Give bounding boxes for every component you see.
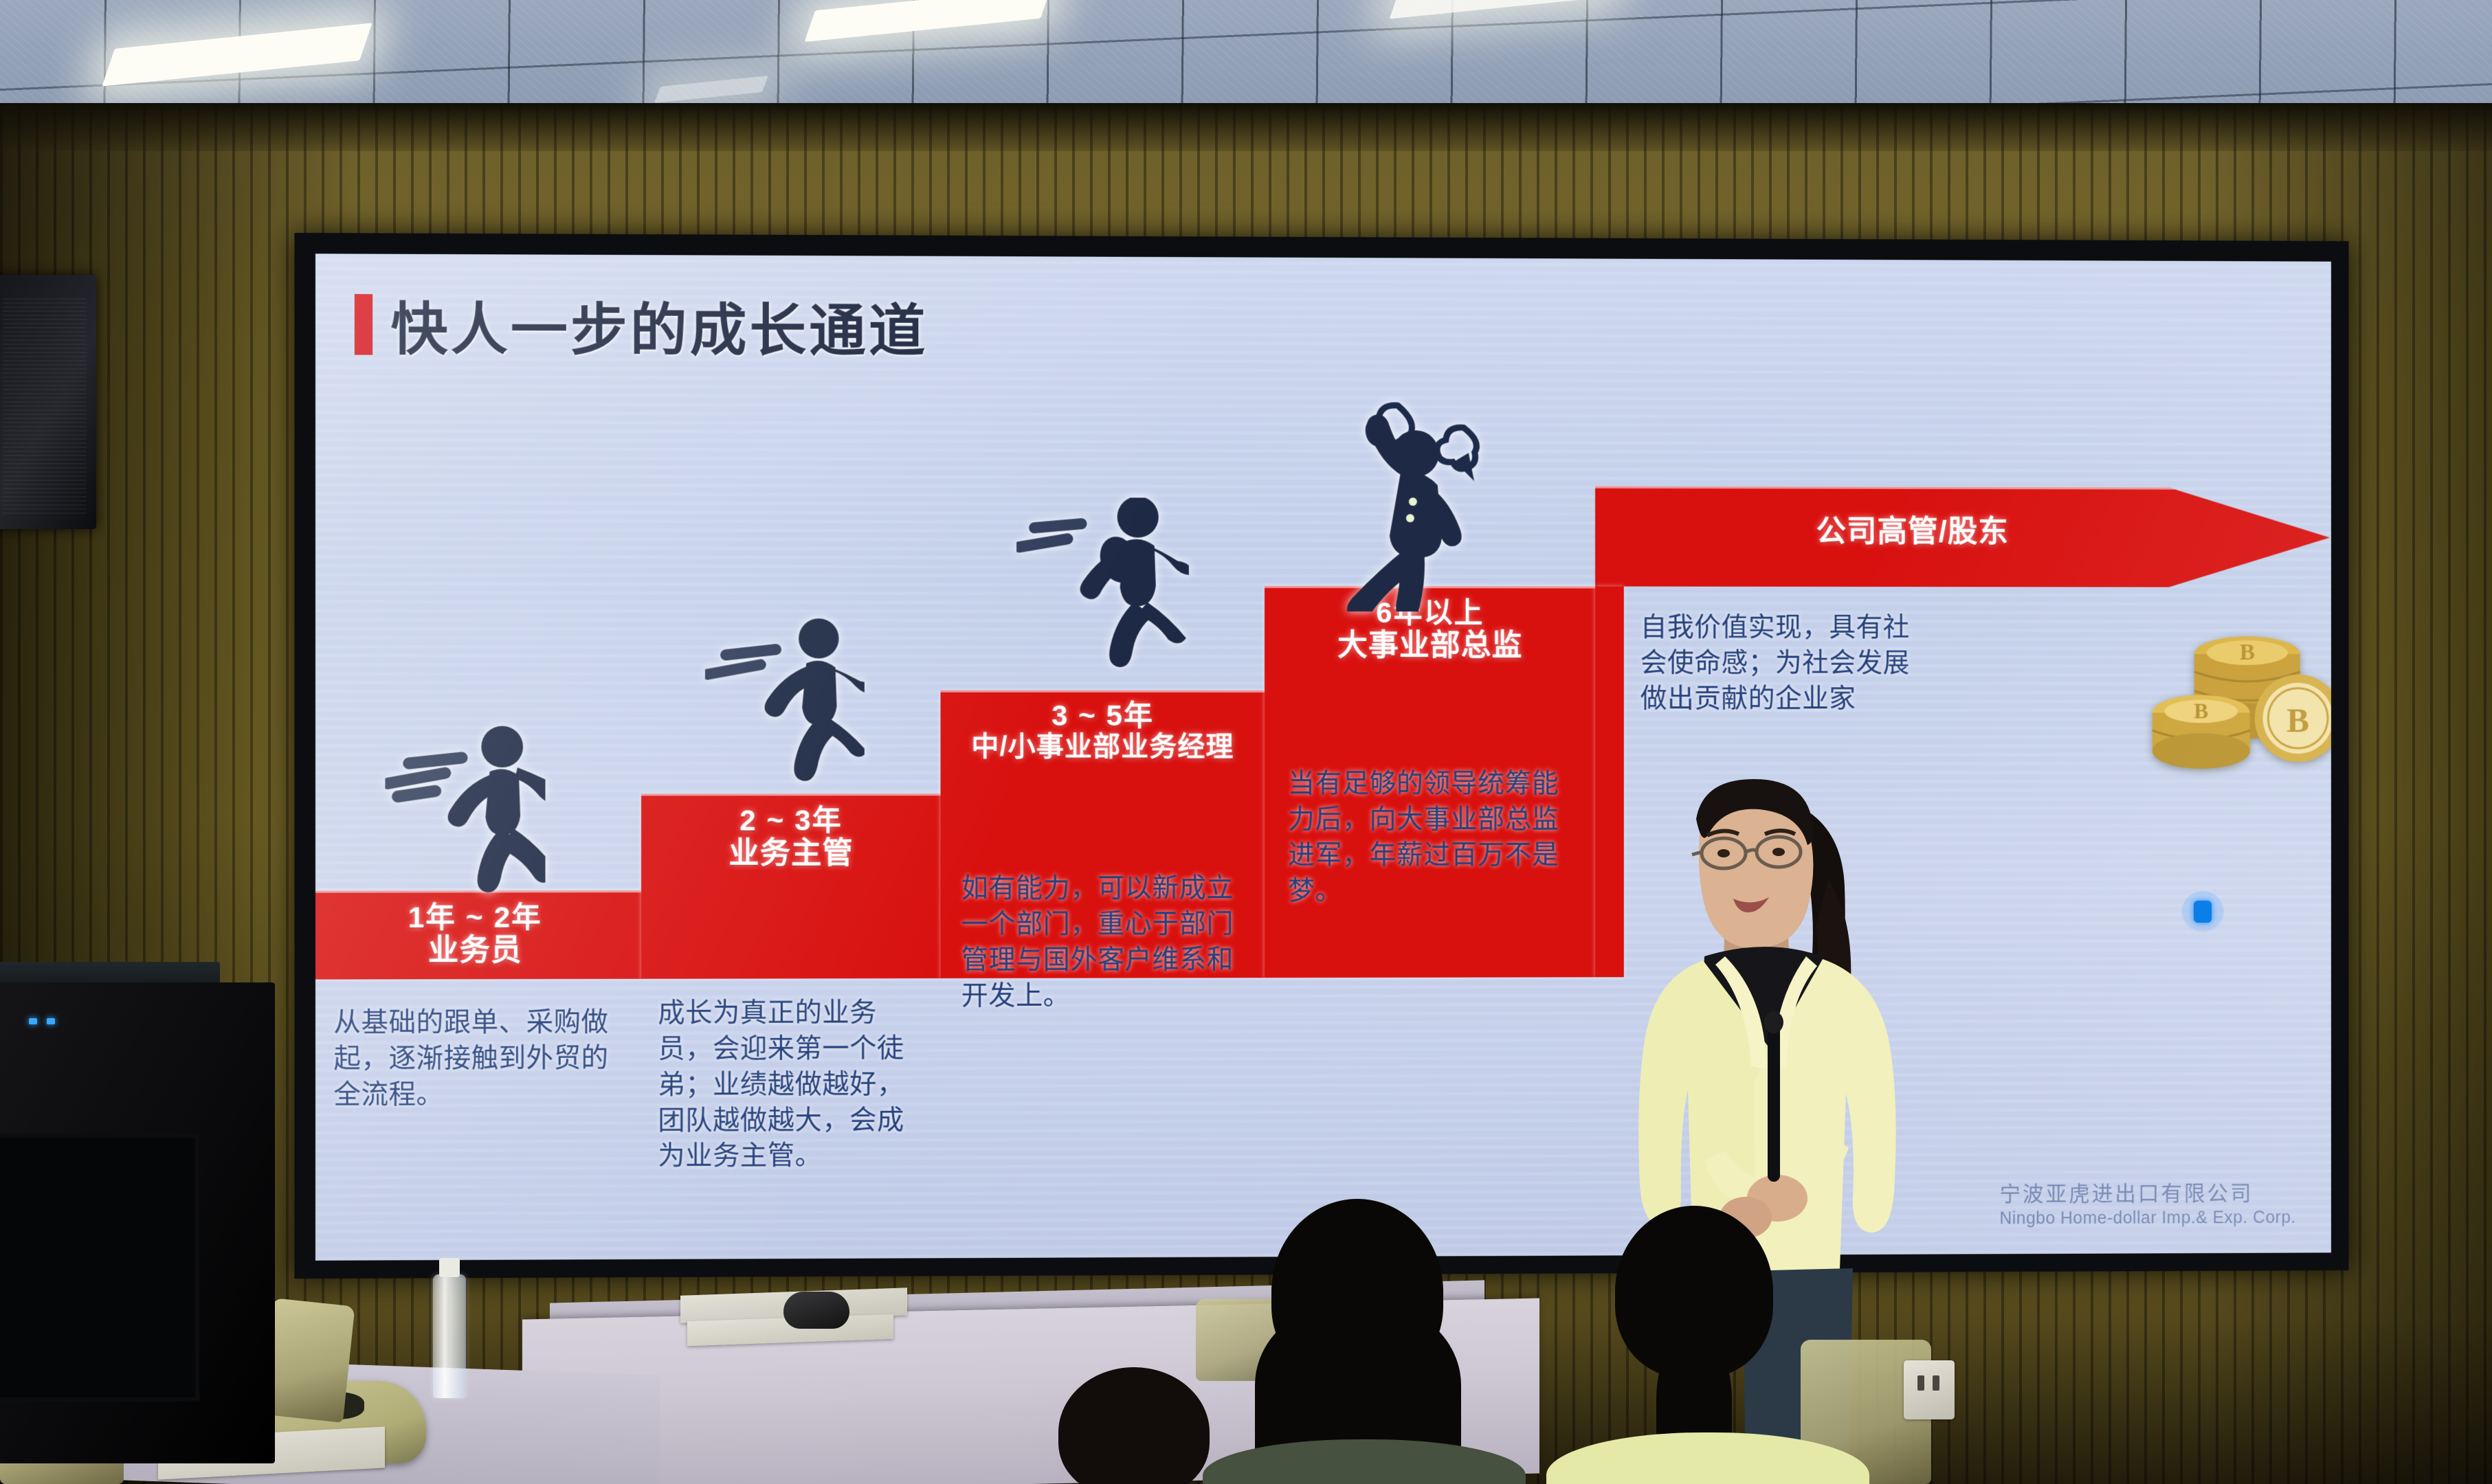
- company-watermark: 宁波亚虎进出口有限公司 Ningbo Home-dollar Imp.& Exp…: [1999, 1180, 2295, 1229]
- blue-cursor-dot-icon[interactable]: [2181, 891, 2224, 934]
- computer-mouse[interactable]: [783, 1292, 849, 1329]
- running-person-icon: [1016, 497, 1189, 684]
- step-body-2: 成长为真正的业务员，会迎来第一个徒弟；业绩越做越好，团队越做越大，会成为业务主管…: [658, 995, 922, 1174]
- step-body-1: 从基础的跟单、采购做起，逐渐接触到外贸的全流程。: [333, 1004, 612, 1113]
- step-block-1: 1年 ~ 2年 业务员: [315, 890, 641, 980]
- step-label-3: 3 ~ 5年 中/小事业部业务经理: [941, 699, 1265, 763]
- step-label-2: 2 ~ 3年 业务主管: [641, 804, 940, 870]
- step-body-3: 如有能力，可以新成立一个部门，重心于部门管理与国外客户维系和开发上。: [961, 870, 1237, 1013]
- watermark-english: Ningbo Home-dollar Imp.& Exp. Corp.: [1999, 1207, 2295, 1230]
- step-label-5: 公司高管/股东: [1595, 515, 2330, 550]
- audience-member: [1031, 1367, 1258, 1484]
- svg-text:B: B: [2194, 699, 2208, 723]
- running-person-icon: [385, 725, 545, 898]
- audience-shoulders: [1546, 1432, 1869, 1484]
- wall-power-socket[interactable]: [1904, 1360, 1955, 1419]
- celebrating-businessman-icon: [1313, 398, 1518, 611]
- audience-member: [1230, 1199, 1491, 1484]
- presentation-slide: 快人一步的成长通道 1年 ~ 2年 业务员 2 ~ 3年 业务主管: [315, 254, 2331, 1261]
- step-block-5-riser: [1595, 587, 1624, 978]
- audience-member: [1567, 1206, 1842, 1484]
- step-body-5: 自我价值实现，具有社会使命感；为社会发展做出贡献的企业家: [1640, 610, 1920, 717]
- chair: [260, 1298, 355, 1423]
- running-person-icon: [705, 618, 865, 790]
- step-body-4: 当有足够的领导统筹能力后，向大事业部总监进军，年薪过百万不是梦。: [1288, 766, 1562, 909]
- water-bottle: [433, 1274, 466, 1398]
- led-indicator: [29, 1018, 37, 1024]
- audience-head: [1058, 1367, 1210, 1484]
- wall-speaker: [0, 275, 96, 529]
- step-block-2: 2 ~ 3年 业务主管: [641, 794, 940, 979]
- presentation-screen-bezel: 快人一步的成长通道 1年 ~ 2年 业务员 2 ~ 3年 业务主管: [294, 233, 2348, 1279]
- svg-text:B: B: [2240, 640, 2255, 665]
- watermark-chinese: 宁波亚虎进出口有限公司: [1999, 1180, 2295, 1208]
- step-block-5-arrow: 公司高管/股东: [1595, 486, 2330, 587]
- wall-top-trim: [0, 103, 2492, 151]
- gold-coin-stack-icon: B B B: [2146, 622, 2331, 780]
- equipment-monitor: [0, 1134, 199, 1402]
- svg-text:B: B: [2287, 701, 2309, 739]
- conference-room-scene: 快人一步的成长通道 1年 ~ 2年 业务员 2 ~ 3年 业务主管: [0, 0, 2492, 1484]
- led-indicator: [47, 1018, 55, 1024]
- step-label-1: 1年 ~ 2年 业务员: [315, 901, 641, 968]
